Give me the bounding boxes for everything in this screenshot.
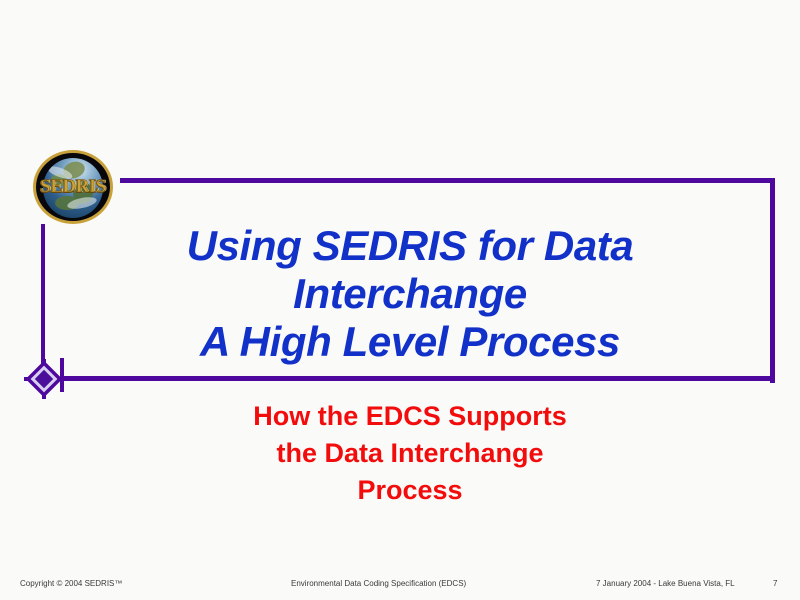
logo-wordmark: SEDRIS bbox=[30, 176, 116, 198]
slide-title-line: Using SEDRIS for Data bbox=[110, 222, 710, 270]
footer-page-number: 7 bbox=[773, 579, 777, 588]
decorative-rule-top bbox=[120, 178, 775, 183]
slide-title-line: Interchange bbox=[110, 270, 710, 318]
slide-subtitle-line: Process bbox=[150, 472, 670, 509]
slide-subtitle-line: How the EDCS Supports bbox=[150, 398, 670, 435]
footer-copyright: Copyright © 2004 SEDRIS™ bbox=[20, 579, 122, 588]
presentation-slide: SEDRIS Using SEDRIS for Data Interchange… bbox=[0, 0, 800, 600]
decorative-rule-right bbox=[770, 178, 775, 383]
slide-subtitle: How the EDCS Supports the Data Interchan… bbox=[150, 398, 670, 509]
diamond-ornament-icon bbox=[24, 359, 64, 399]
slide-title-line: A High Level Process bbox=[110, 318, 710, 366]
sedris-logo: SEDRIS bbox=[30, 148, 118, 228]
decorative-rule-bottom bbox=[60, 376, 775, 381]
decorative-rule-left bbox=[41, 224, 45, 380]
slide-subtitle-line: the Data Interchange bbox=[150, 435, 670, 472]
slide-title: Using SEDRIS for Data Interchange A High… bbox=[110, 222, 710, 366]
footer-event-info: 7 January 2004 - Lake Buena Vista, FL bbox=[596, 579, 735, 588]
footer-document-title: Environmental Data Coding Specification … bbox=[291, 579, 466, 588]
